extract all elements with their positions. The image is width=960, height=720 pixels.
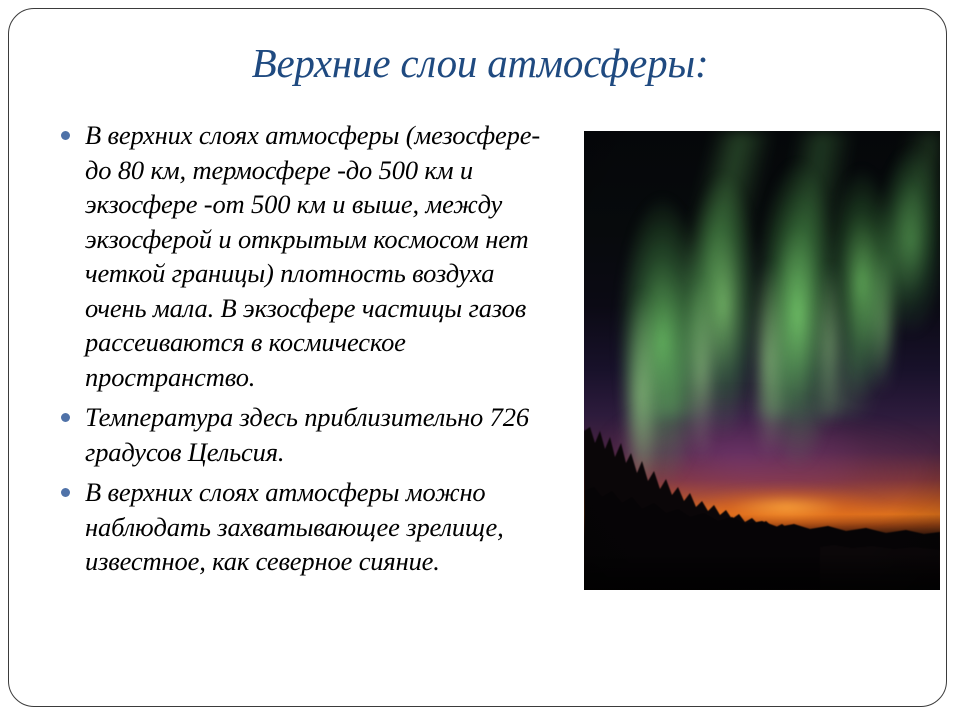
- bullet-text: В верхних слоях атмосферы (мезосфере-до …: [85, 120, 540, 392]
- bullet-list-item: В верхних слоях атмосферы можно наблюдат…: [48, 475, 560, 579]
- bullet-text: В верхних слоях атмосферы можно наблюдат…: [85, 477, 504, 576]
- slide-title: Верхние слои атмосферы:: [60, 38, 900, 88]
- aurora-borealis-image: [584, 131, 940, 590]
- bullet-dot-icon: [61, 131, 70, 140]
- bullet-list-item: В верхних слоях атмосферы (мезосфере-до …: [48, 118, 560, 394]
- bullet-list-item: Температура здесь приблизительно 726 гра…: [48, 400, 560, 469]
- bullet-text: Температура здесь приблизительно 726 гра…: [85, 402, 529, 467]
- image-vignette: [584, 131, 940, 590]
- presentation-slide: Верхние слои атмосферы: В верхних слоях …: [0, 0, 960, 720]
- bullet-dot-icon: [61, 488, 70, 497]
- bullet-dot-icon: [61, 413, 70, 422]
- slide-body-content: В верхних слоях атмосферы (мезосфере-до …: [48, 118, 560, 579]
